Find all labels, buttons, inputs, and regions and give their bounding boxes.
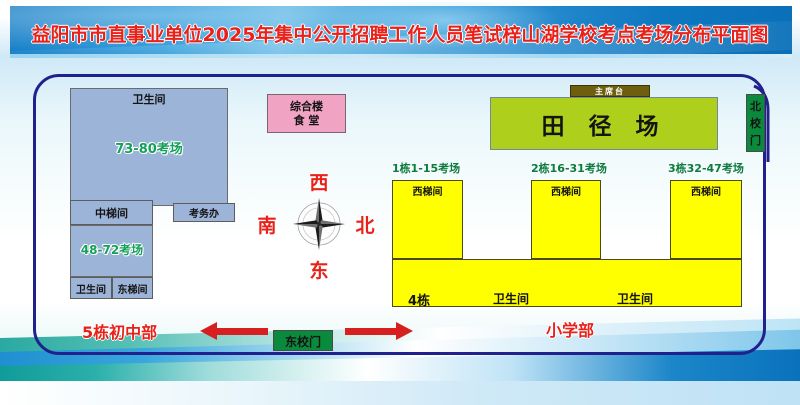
- track-field-label: 田 径 场: [490, 110, 718, 138]
- building-1-stair-label: 西梯间: [392, 183, 463, 197]
- building-2-title: 2栋16-31考场: [531, 160, 661, 175]
- north-gate-char-1: 北: [746, 98, 765, 114]
- building-4-toilet-1: 卫生间: [476, 290, 546, 306]
- canteen-line1: 综合楼: [267, 99, 346, 113]
- exam-office-label: 考务办: [173, 205, 235, 220]
- left-hall-73-80-label: 73-80考场: [70, 138, 228, 156]
- compass-rose: [288, 193, 350, 255]
- left-middle-stair-label: 中梯间: [70, 204, 153, 221]
- building-2-stair-label: 西梯间: [531, 183, 601, 197]
- north-gate-char-3: 门: [746, 132, 765, 148]
- page-title: 益阳市市直事业单位2025年集中公开招聘工作人员笔试梓山湖学校考点考场分布平面图: [0, 20, 800, 47]
- left-section-label: 5栋初中部: [82, 319, 212, 339]
- compass-rose-icon: [288, 193, 350, 255]
- building-1-title: 1栋1-15考场: [392, 160, 512, 175]
- compass-label-top: 西: [292, 170, 346, 192]
- rostrum-label: 主席台: [570, 85, 650, 97]
- building-3-stair-label: 西梯间: [670, 183, 742, 197]
- bottom-wave-4: [0, 381, 800, 405]
- floorplan-poster: 益阳市市直事业单位2025年集中公开招聘工作人员笔试梓山湖学校考点考场分布平面图…: [0, 0, 800, 405]
- east-gate-label: 东校门: [273, 333, 333, 349]
- header-underline: [10, 54, 792, 58]
- building-4-toilet-2: 卫生间: [600, 290, 670, 306]
- compass-label-bottom: 东: [292, 258, 346, 280]
- north-gate-char-2: 校: [746, 115, 765, 131]
- left-toilet-bottom-label: 卫生间: [70, 281, 112, 296]
- left-hall-48-72-label: 48-72考场: [66, 240, 158, 258]
- building-3-title: 3栋32-47考场: [668, 160, 798, 175]
- right-section-label: 小学部: [525, 319, 615, 339]
- left-east-stair-label: 东梯间: [112, 281, 153, 296]
- building-4-label: 4栋: [408, 290, 468, 306]
- compass-label-left: 南: [252, 213, 282, 235]
- canteen-line2: 食 堂: [267, 113, 346, 127]
- left-toilet-top-label: 卫生间: [70, 91, 228, 107]
- compass-label-right: 北: [350, 213, 380, 235]
